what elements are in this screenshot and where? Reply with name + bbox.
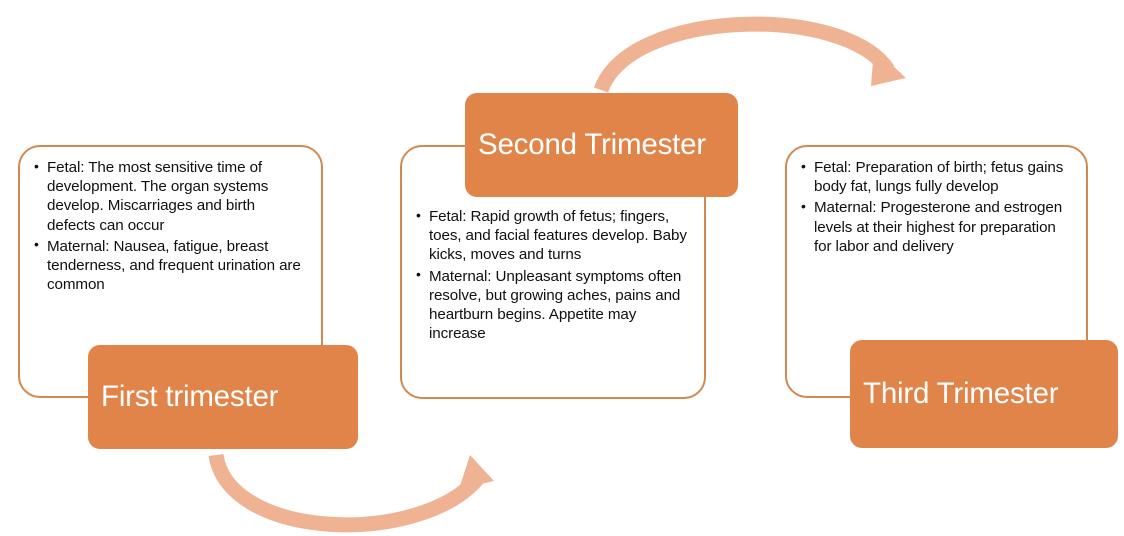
stage-chip-label: Second Trimester	[478, 129, 706, 161]
detail-bullet-fetal: Fetal: Preparation of birth; fetus gains…	[801, 158, 1074, 196]
arrow-first-to-second	[216, 455, 494, 525]
stage-chip-third-trimester[interactable]: Third Trimester	[850, 340, 1118, 448]
stage-chip-label: Third Trimester	[863, 378, 1058, 410]
detail-list-third-trimester: Fetal: Preparation of birth; fetus gains…	[787, 147, 1086, 256]
detail-bullet-maternal: Maternal: Progesterone and estrogen leve…	[801, 198, 1074, 256]
detail-list-first-trimester: Fetal: The most sensitive time of develo…	[20, 147, 321, 295]
detail-bullet-fetal: Fetal: Rapid growth of fetus; fingers, t…	[416, 207, 690, 265]
stage-chip-label: First trimester	[101, 381, 278, 413]
detail-bullet-maternal: Maternal: Nausea, fatigue, breast tender…	[34, 237, 307, 295]
diagram-canvas: Fetal: The most sensitive time of develo…	[0, 0, 1124, 536]
detail-bullet-maternal: Maternal: Unpleasant symptoms often reso…	[416, 267, 690, 344]
detail-bullet-fetal: Fetal: The most sensitive time of develo…	[34, 158, 307, 235]
stage-chip-first-trimester[interactable]: First trimester	[88, 345, 358, 449]
arrow-second-to-third	[601, 24, 906, 90]
stage-chip-second-trimester[interactable]: Second Trimester	[465, 93, 738, 197]
